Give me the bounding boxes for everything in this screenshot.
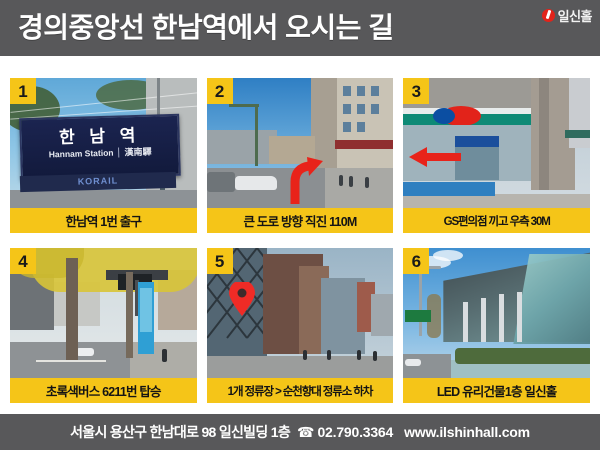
brand-logo: 일신홀 [542, 6, 592, 25]
window [357, 86, 365, 96]
step-panel-4[interactable]: 4 초록색버스 6211번 탑승 [10, 248, 197, 403]
step-photo-6 [403, 248, 590, 378]
far-building [371, 294, 394, 336]
window [343, 122, 351, 132]
step-badge-3: 3 [403, 78, 429, 104]
tree-trunk [126, 272, 133, 358]
telephone-icon: ☎ [297, 425, 314, 439]
hedge-row [455, 348, 590, 364]
steps-grid: 한 남 역 Hannam Station 漢南驛 KORAIL 1 한남역 1번… [10, 78, 590, 403]
station-name-sign: 한 남 역 Hannam Station 漢南驛 [19, 114, 181, 180]
curved-red-arrow-icon [285, 156, 325, 204]
street-lamp-pole [255, 104, 258, 166]
poster-header: 경의중앙선 한남역에서 오시는 길 일신홀 [0, 0, 600, 56]
pedestrian [373, 351, 377, 361]
window [371, 86, 379, 96]
step-caption-6: LED 유리건물1층 일신홀 [403, 378, 590, 403]
step-panel-5[interactable]: 5 1개 정류장 > 순천향대 정류소 하차 [207, 248, 394, 403]
road [207, 356, 394, 378]
step-panel-1[interactable]: 한 남 역 Hannam Station 漢南驛 KORAIL 1 한남역 1번… [10, 78, 197, 233]
footer-address: 서울시 용산구 한남대로 98 일신빌딩 1층 [70, 422, 290, 442]
divider [118, 147, 119, 157]
corner-column-shade [539, 78, 549, 190]
step-photo-1: 한 남 역 Hannam Station 漢南驛 KORAIL [10, 78, 197, 208]
sidewalk [325, 168, 393, 208]
step-photo-2 [207, 78, 394, 208]
window [357, 122, 365, 132]
station-name-english: Hannam Station [49, 147, 114, 159]
pedestrian [349, 176, 353, 187]
bus-stop-kiosk-panel [140, 288, 152, 332]
footer-phone-group[interactable]: ☎ 02.790.3364 [297, 424, 393, 440]
pedestrian [357, 350, 361, 360]
road [403, 354, 451, 378]
step-panel-6[interactable]: 6 LED 유리건물1층 일신홀 [403, 248, 590, 403]
lane-marking [36, 360, 106, 362]
building-column [463, 302, 468, 342]
building-column [517, 292, 522, 342]
blue-barrier-fence [403, 182, 495, 196]
step-badge-5: 5 [207, 248, 233, 274]
step-badge-4: 4 [10, 248, 36, 274]
red-map-pin-icon [229, 282, 255, 316]
parked-car [235, 176, 277, 190]
tree-trunk [66, 258, 78, 360]
step-badge-6: 6 [403, 248, 429, 274]
station-name-hanja: 漢南驛 [124, 145, 151, 159]
car-on-road [76, 348, 94, 356]
parked-van [207, 172, 235, 192]
ground [403, 194, 590, 208]
building-column [481, 298, 486, 342]
poster-footer: 서울시 용산구 한남대로 98 일신빌딩 1층 ☎ 02.790.3364 ww… [0, 414, 600, 450]
station-name-row: Hannam Station 漢南驛 [28, 144, 172, 161]
step-caption-5: 1개 정류장 > 순천향대 정류소 하차 [207, 378, 394, 403]
window [343, 86, 351, 96]
building-column [499, 294, 504, 342]
step-caption-4: 초록색버스 6211번 탑승 [10, 378, 197, 403]
pedestrian [365, 177, 369, 188]
pedestrian [339, 175, 343, 186]
window [371, 104, 379, 114]
left-red-arrow-icon [409, 146, 461, 168]
window [357, 104, 365, 114]
green-road-sign [405, 310, 431, 322]
pedestrian [303, 350, 307, 360]
step-caption-2: 큰 도로 방향 직진 110M [207, 208, 394, 233]
step-badge-1: 1 [10, 78, 36, 104]
neighbor-awning [565, 130, 590, 138]
step-panel-2[interactable]: 2 큰 도로 방향 직진 110M [207, 78, 394, 233]
step-photo-5 [207, 248, 394, 378]
window [343, 104, 351, 114]
pedestrian [162, 349, 167, 362]
step-photo-4 [10, 248, 197, 378]
step-caption-3: GS편의점 끼고 우측 30M [403, 208, 590, 233]
street-lamp-pole [419, 266, 422, 336]
step-panel-3[interactable]: 3 GS편의점 끼고 우측 30M [403, 78, 590, 233]
step-caption-1: 한남역 1번 출구 [10, 208, 197, 233]
korail-logo-text: KORAIL [20, 174, 176, 188]
page-title: 경의중앙선 한남역에서 오시는 길 [18, 6, 393, 46]
pedestrian [327, 350, 331, 360]
ilshin-circle-logo-icon [542, 9, 555, 22]
footer-website-link[interactable]: www.ilshinhall.com [404, 424, 530, 440]
brand-name: 일신홀 [558, 6, 592, 25]
step-badge-2: 2 [207, 78, 233, 104]
ground [10, 190, 197, 208]
step-photo-3 [403, 78, 590, 208]
car-on-road [405, 359, 421, 366]
store-door-sign [455, 136, 499, 147]
shop-awning [335, 140, 393, 149]
directions-poster: 경의중앙선 한남역에서 오시는 길 일신홀 한 남 역 [0, 0, 600, 450]
low-building [207, 130, 277, 164]
footer-phone-number: 02.790.3364 [317, 424, 393, 440]
